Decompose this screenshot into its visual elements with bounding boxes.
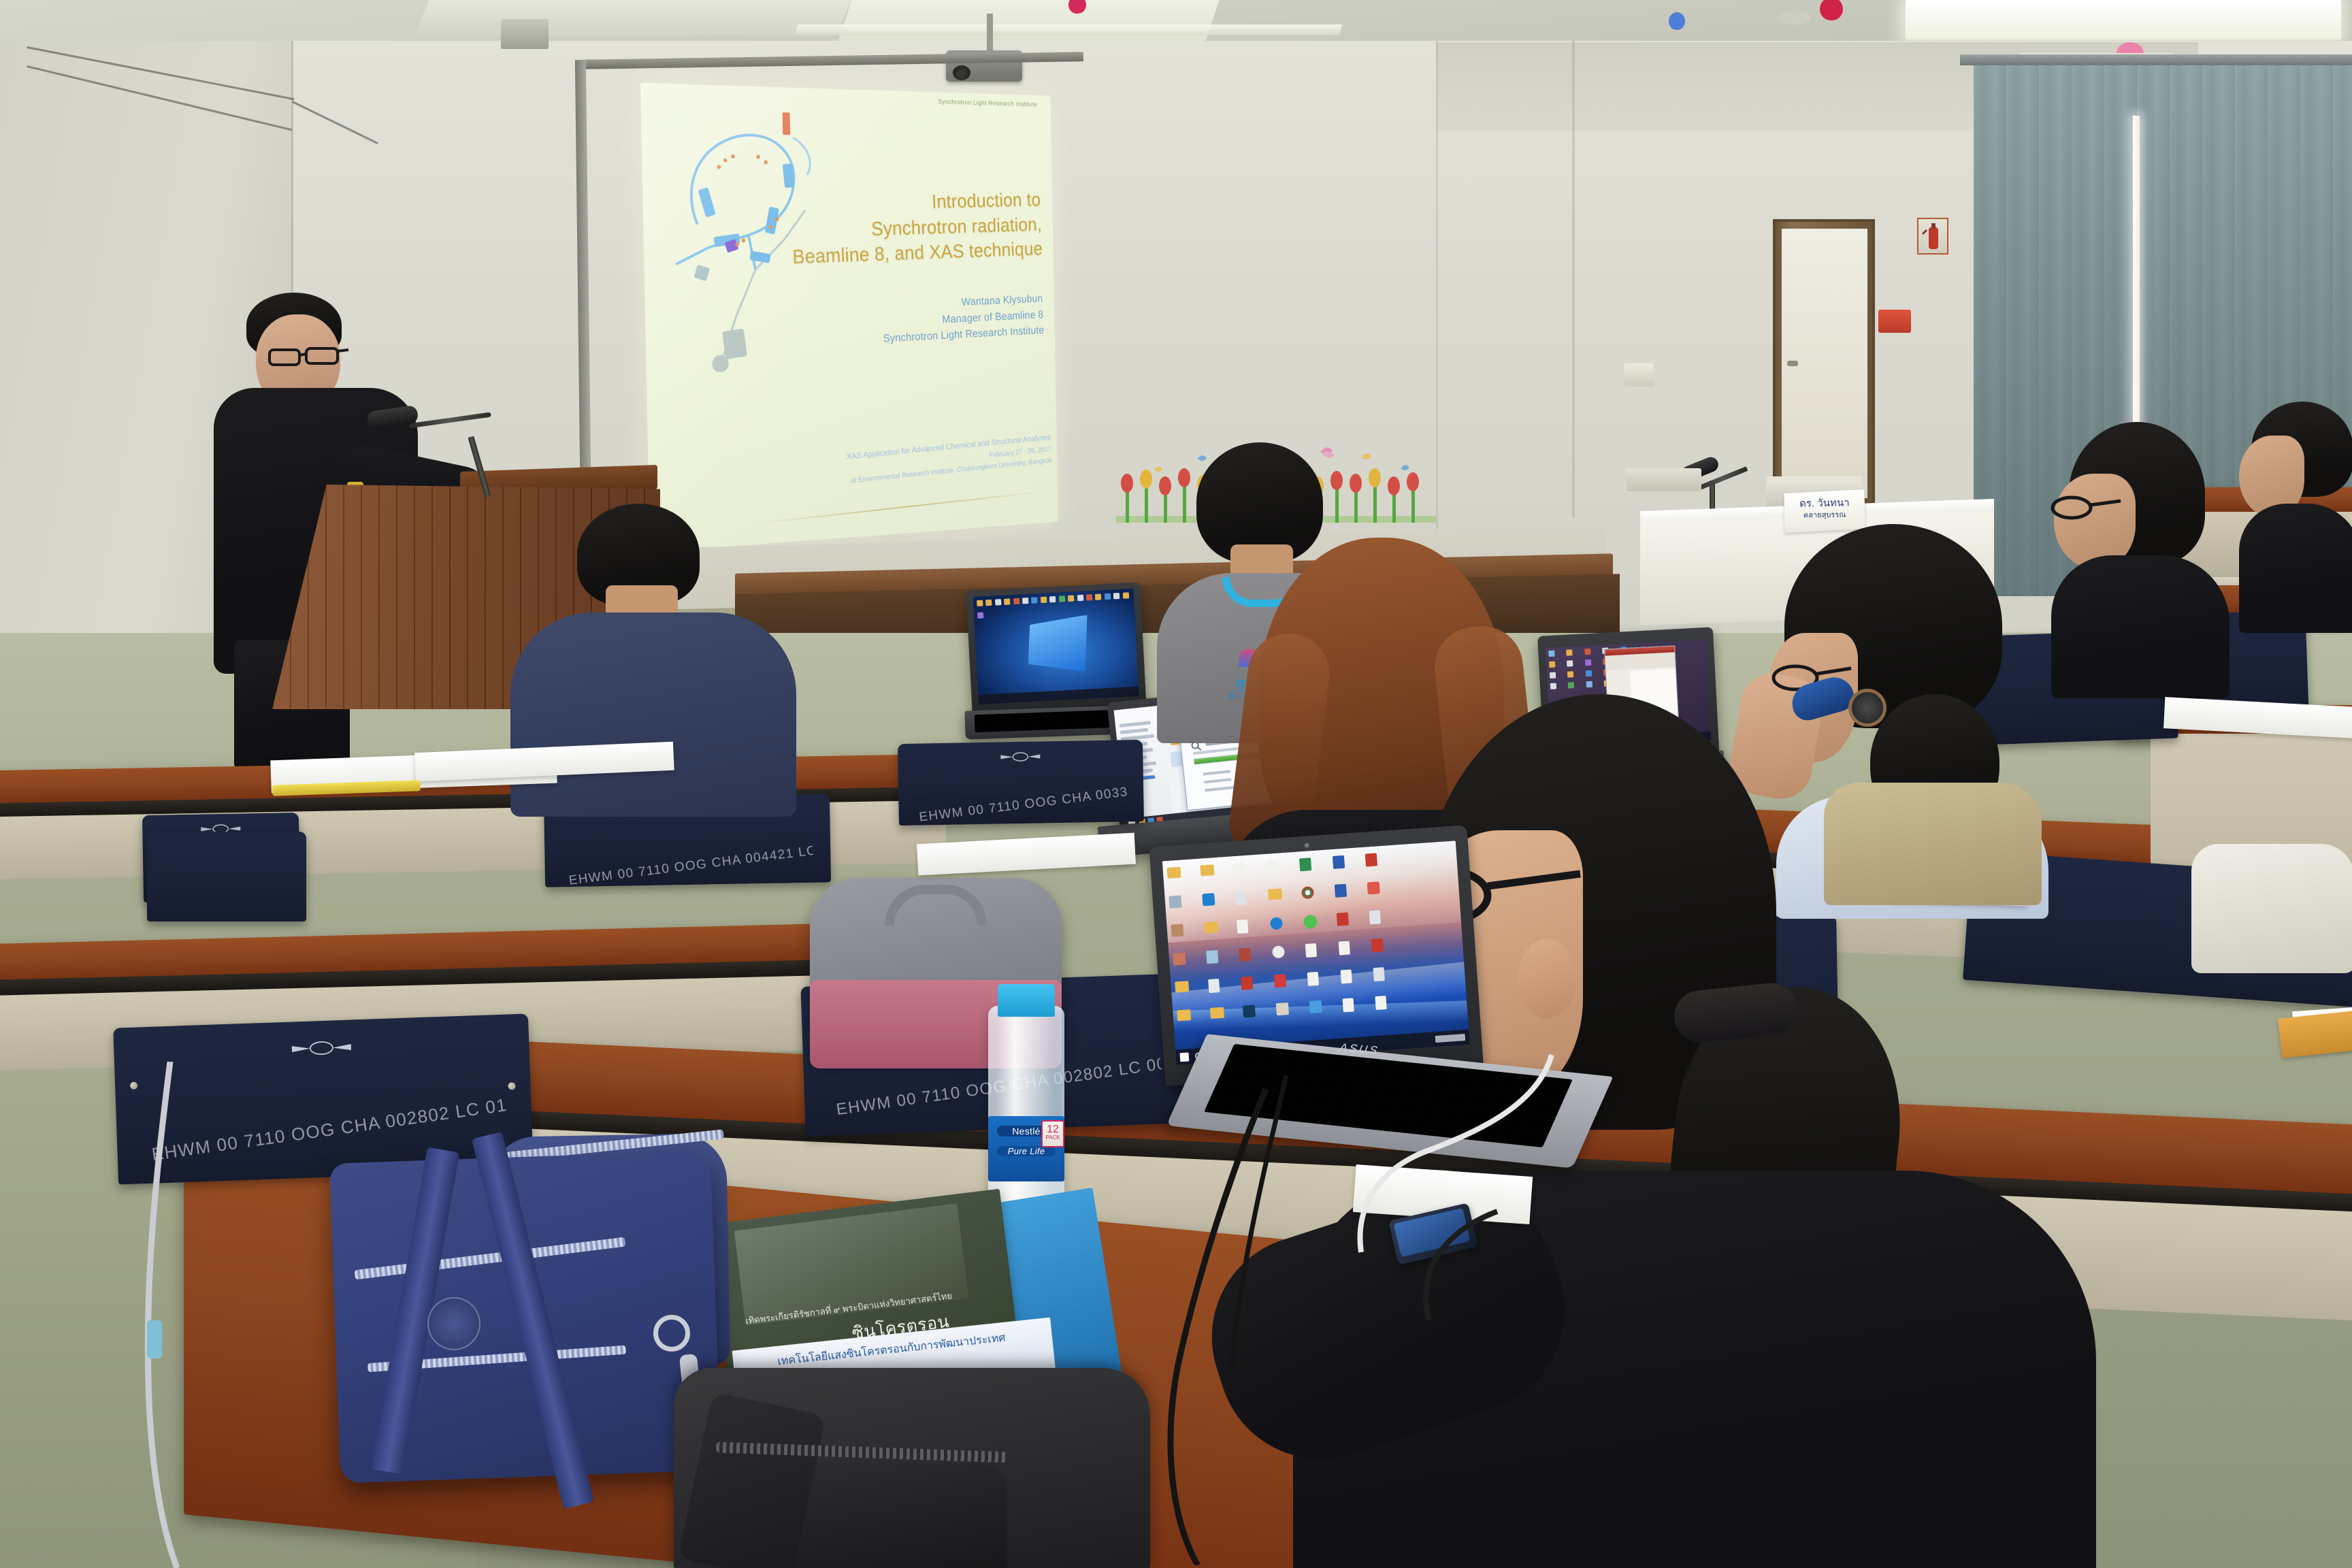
name-card-line-2: คลายสุบรรณ [1788, 510, 1861, 521]
wall-seam [1572, 41, 1575, 517]
document-icon[interactable] [1307, 972, 1319, 986]
folder-icon[interactable] [1204, 921, 1218, 933]
bottle-cap[interactable] [998, 984, 1055, 1017]
document-icon[interactable] [1305, 943, 1317, 958]
fluorescent-light-strip [795, 24, 1343, 35]
laptop-screen-back-row [973, 589, 1139, 704]
blue-balloon [1669, 12, 1685, 30]
app-icon[interactable] [1272, 945, 1285, 958]
attendee-torso [2051, 555, 2229, 698]
image-icon[interactable] [1173, 952, 1186, 965]
lightning-app-icon[interactable] [1274, 974, 1286, 987]
image-icon[interactable] [1309, 1000, 1322, 1013]
document-icon[interactable] [1342, 998, 1354, 1012]
classroom-photo: Synchrotron Light Research Institute Int… [0, 0, 2352, 1568]
slide-footer-block: XAS Application for Advanced Chemical an… [732, 431, 1052, 499]
slide-author-block: Wantana Klysubun Manager of Beamline 8 S… [791, 291, 1044, 352]
desktop-icon-grid [1166, 851, 1408, 1047]
ceiling-mount [501, 19, 549, 49]
laptop-back-row[interactable] [966, 582, 1146, 716]
pdf-icon[interactable] [1365, 853, 1377, 866]
wall-seam [1436, 41, 1438, 531]
attendee-torso [2239, 504, 2352, 633]
chair-back-row-right[interactable]: EHWM 00 7110 OOG CHA 003302 LC 0091 0038 [898, 740, 1144, 826]
line-app-icon[interactable] [1303, 915, 1318, 929]
app-icon[interactable] [1367, 881, 1380, 894]
fire-extinguisher-sign-icon [1917, 218, 1948, 255]
chair-brand-logo-icon [999, 751, 1041, 762]
attendee-ear [1518, 939, 1576, 1018]
slide-institute-logo: Synchrotron Light Research Institute [938, 99, 1037, 108]
attendee-far-right [2028, 422, 2232, 694]
document-icon[interactable] [1233, 862, 1245, 877]
app-icon[interactable] [1276, 1002, 1289, 1015]
excel-icon[interactable] [1299, 857, 1311, 871]
document-icon[interactable] [1266, 860, 1277, 875]
ceiling-panel [414, 0, 851, 35]
folder-icon[interactable] [1175, 981, 1189, 992]
eyeglasses-icon [2050, 495, 2129, 523]
white-cloth-right [2191, 844, 2352, 973]
system-tray-clock[interactable] [1435, 1034, 1466, 1043]
name-card-text: ดร. วันทนา คลายสุบรรณ [1788, 496, 1861, 521]
smoke-detector [1779, 11, 1810, 24]
power-cables-left [82, 1062, 327, 1568]
folder-icon[interactable] [1200, 864, 1214, 876]
red-balloon [1820, 0, 1843, 20]
fire-alarm-box[interactable] [1878, 310, 1911, 333]
document-icon[interactable] [1235, 891, 1247, 905]
document-icon[interactable] [1373, 967, 1385, 981]
bottle-pack-count: 12 [1043, 1124, 1063, 1135]
attendee-far-right-rear [2239, 402, 2352, 626]
cloth-bag-right [1824, 783, 2042, 905]
projector-mount-pole [987, 14, 993, 54]
attendee-torso [510, 612, 796, 817]
image-icon[interactable] [1171, 924, 1183, 937]
projector-lens-icon [953, 65, 970, 80]
folder-icon[interactable] [1177, 1009, 1191, 1021]
folder-icon[interactable] [1210, 1007, 1224, 1019]
name-card-line-1: ดร. วันทนา [1788, 496, 1861, 511]
chair-inventory-code: EHWM 00 7110 OOG CHA 004421 LC 0054 0041 [568, 844, 813, 889]
bottle-pack-unit: PACK [1043, 1135, 1063, 1141]
projection-screen: Synchrotron Light Research Institute Int… [640, 83, 1058, 553]
curtain-rod [1960, 54, 2352, 65]
image-icon[interactable] [1169, 896, 1181, 909]
photoshop-icon[interactable] [1243, 1004, 1256, 1017]
wall-outlet-plate [1624, 363, 1654, 387]
acrobat-icon[interactable] [1239, 948, 1251, 962]
slide-title: Introduction to Synchrotron radiation, B… [733, 188, 1043, 273]
bottle-product: Pure Life [997, 1146, 1055, 1156]
document-icon[interactable] [1340, 969, 1352, 983]
explorer-ribbon[interactable] [1605, 652, 1676, 670]
chair-brand-logo-icon [289, 1039, 355, 1057]
door-handle[interactable] [1787, 361, 1798, 366]
dropbox-icon[interactable] [1202, 893, 1215, 906]
document-icon[interactable] [1237, 919, 1248, 934]
power-cables [1062, 1048, 1674, 1565]
pdf-icon[interactable] [1336, 913, 1348, 926]
chair-screw [508, 1082, 515, 1090]
document-icon[interactable] [1208, 979, 1220, 993]
eyeglasses-icon [268, 346, 351, 369]
word-icon[interactable] [1334, 884, 1346, 898]
word-icon[interactable] [1332, 855, 1344, 869]
acrobat-icon[interactable] [1241, 977, 1253, 990]
folder-icon[interactable] [1268, 888, 1282, 900]
chair-inventory-code: EHWM 00 7110 OOG CHA 003302 LC 0091 0038 [918, 785, 1129, 826]
wristwatch [1848, 689, 1886, 727]
chrome-icon[interactable] [1301, 886, 1314, 899]
document-icon[interactable] [1369, 910, 1381, 924]
folder-icon[interactable] [1166, 867, 1181, 879]
handbag-logo-icon [427, 1297, 480, 1350]
pdf-icon[interactable] [1371, 938, 1384, 952]
document-icon[interactable] [1375, 996, 1387, 1010]
ceiling-light-panel [1906, 0, 2341, 39]
webcam-icon [1304, 843, 1309, 847]
document-icon[interactable] [1338, 941, 1350, 955]
handbag-d-ring [653, 1315, 690, 1352]
recycle-bin-icon[interactable] [1206, 950, 1218, 964]
av-control-panel[interactable] [1627, 468, 1701, 491]
teamviewer-icon[interactable] [1270, 917, 1283, 930]
chair-middle-row-left[interactable] [147, 832, 306, 921]
laptop-screen-asus [1162, 840, 1470, 1064]
bottle-pack-badge: 12 PACK [1041, 1120, 1064, 1147]
